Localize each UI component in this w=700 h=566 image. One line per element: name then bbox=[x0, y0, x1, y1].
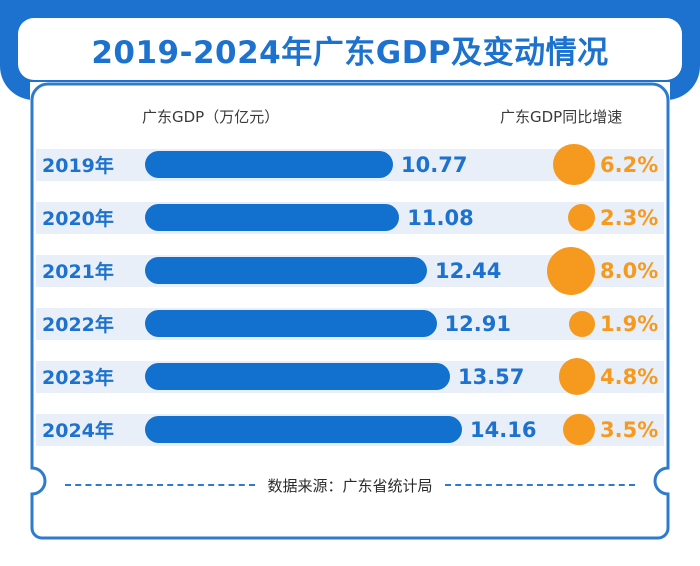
column-header-gdp: 广东GDP（万亿元） bbox=[142, 106, 279, 127]
growth-circle bbox=[553, 144, 595, 186]
card-content: 广东GDP（万亿元） 广东GDP同比增速 2019年10.776.2%2020年… bbox=[30, 82, 670, 540]
table-row: 2024年14.163.5% bbox=[30, 403, 670, 456]
gdp-bar bbox=[145, 151, 393, 178]
gdp-value-label: 14.16 bbox=[470, 403, 536, 456]
row-year-label: 2021年 bbox=[42, 244, 142, 297]
gdp-value-label: 11.08 bbox=[407, 191, 473, 244]
row-year-label: 2019年 bbox=[42, 138, 142, 191]
gdp-bar bbox=[145, 363, 450, 390]
table-row: 2020年11.082.3% bbox=[30, 191, 670, 244]
growth-circle bbox=[559, 358, 595, 394]
growth-circle bbox=[568, 204, 595, 231]
growth-circle bbox=[563, 414, 595, 446]
growth-value-label: 2.3% bbox=[600, 191, 658, 244]
growth-value-label: 1.9% bbox=[600, 297, 658, 350]
growth-value-label: 3.5% bbox=[600, 403, 658, 456]
dashed-divider-left bbox=[65, 484, 255, 486]
chart-card: 广东GDP（万亿元） 广东GDP同比增速 2019年10.776.2%2020年… bbox=[30, 82, 670, 540]
table-row: 2019年10.776.2% bbox=[30, 138, 670, 191]
growth-value-label: 8.0% bbox=[600, 244, 658, 297]
growth-circle bbox=[547, 247, 595, 295]
growth-circle bbox=[569, 311, 595, 337]
gdp-bar bbox=[145, 204, 399, 231]
column-header-growth: 广东GDP同比增速 bbox=[500, 106, 622, 127]
title-pill: 2019-2024年广东GDP及变动情况 bbox=[18, 18, 682, 80]
gdp-value-label: 10.77 bbox=[401, 138, 467, 191]
growth-value-label: 6.2% bbox=[600, 138, 658, 191]
row-year-label: 2022年 bbox=[42, 297, 142, 350]
data-rows: 2019年10.776.2%2020年11.082.3%2021年12.448.… bbox=[30, 138, 670, 456]
gdp-value-label: 12.44 bbox=[435, 244, 501, 297]
gdp-value-label: 13.57 bbox=[458, 350, 524, 403]
gdp-bar bbox=[145, 257, 427, 284]
gdp-bar bbox=[145, 416, 462, 443]
page-title: 2019-2024年广东GDP及变动情况 bbox=[91, 27, 608, 72]
source-footer: 数据来源：广东省统计局 bbox=[30, 468, 670, 502]
row-year-label: 2024年 bbox=[42, 403, 142, 456]
gdp-value-label: 12.91 bbox=[445, 297, 511, 350]
table-row: 2023年13.574.8% bbox=[30, 350, 670, 403]
source-text: 数据来源：广东省统计局 bbox=[267, 475, 432, 496]
row-year-label: 2023年 bbox=[42, 350, 142, 403]
table-row: 2022年12.911.9% bbox=[30, 297, 670, 350]
gdp-bar bbox=[145, 310, 437, 337]
row-year-label: 2020年 bbox=[42, 191, 142, 244]
table-row: 2021年12.448.0% bbox=[30, 244, 670, 297]
growth-value-label: 4.8% bbox=[600, 350, 658, 403]
dashed-divider-right bbox=[445, 484, 635, 486]
